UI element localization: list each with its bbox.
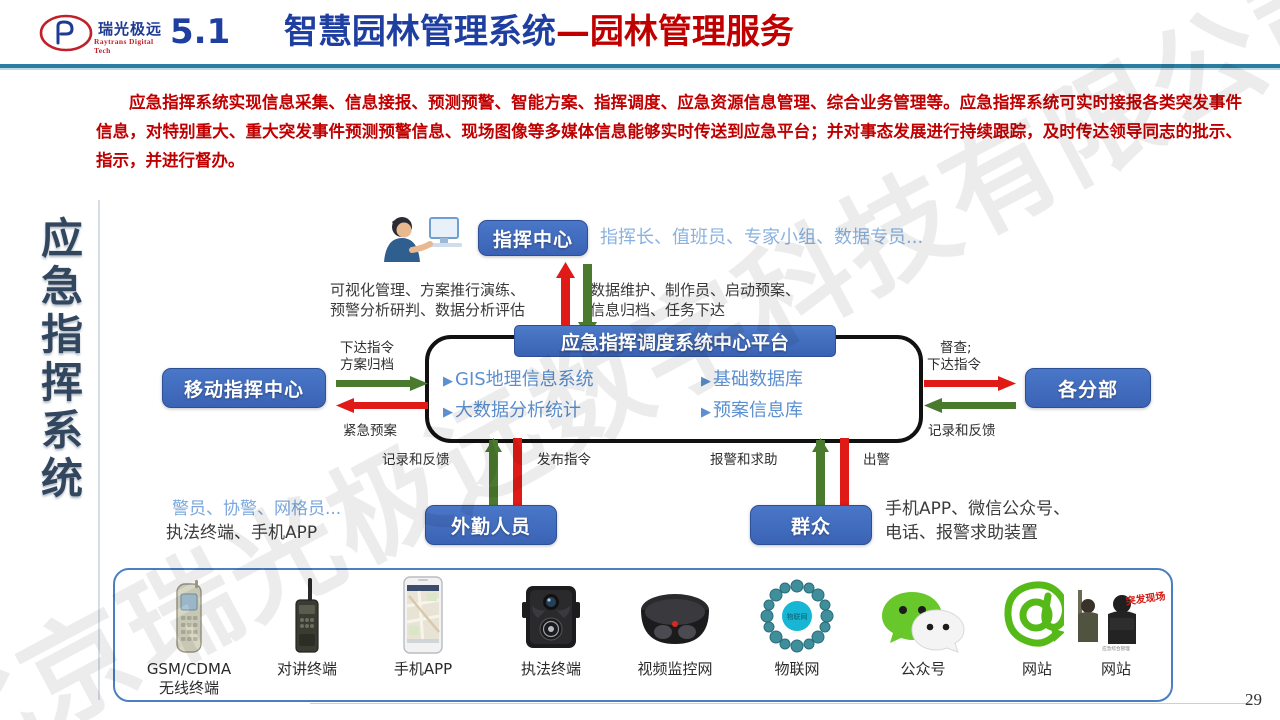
flow-label-right-line2: 信息归档、任务下达 [590, 300, 725, 320]
command-center-badge[interactable]: 指挥中心 [478, 220, 588, 256]
section-number: 5.1 [170, 12, 230, 52]
vertical-title-char-2: 指 [30, 311, 94, 359]
logo-english-name: Raytrans Digital Tech [94, 37, 162, 55]
flow-label-left-line2: 预警分析研判、数据分析评估 [330, 300, 525, 320]
page-title: 5.1 智慧园林管理系统—园林管理服务 [170, 8, 794, 56]
command-center-roles: 指挥长、值班员、专家小组、数据专员... [600, 226, 923, 249]
flow-label-left-line1: 可视化管理、方案推行演练、 [330, 280, 525, 300]
branches-out-label-line2: 下达指令 [927, 357, 981, 374]
logo-chinese-name: 瑞光极远 [98, 18, 162, 39]
vertical-title-char-0: 应 [30, 215, 94, 263]
operator-at-desk-icon [378, 212, 464, 266]
core-right-items: ▶基础数据库 ▶预案信息库 [701, 365, 803, 427]
core-item-basedb: 基础数据库 [713, 369, 803, 390]
bullet-arrow-icon: ▶ [443, 374, 453, 389]
slide-root: 北京瑞光极远数字科技有限公司 瑞光极远 Raytrans Digital Tec… [0, 0, 1280, 720]
vertical-title-char-5: 统 [30, 455, 94, 503]
core-item-bigdata: 大数据分析统计 [455, 400, 581, 421]
field-staff-down-label: 发布指令 [537, 452, 591, 469]
vertical-title-char-3: 挥 [30, 359, 94, 407]
branches-back-label: 记录和反馈 [928, 423, 996, 440]
public-box[interactable]: 群众 [750, 505, 872, 545]
public-up-label: 报警和求助 [710, 452, 778, 469]
bullet-arrow-icon: ▶ [701, 374, 711, 389]
field-staff-up-label: 记录和反馈 [382, 452, 450, 469]
field-staff-roles-blue: 警员、协警、网格员... [172, 498, 341, 521]
intro-paragraph: 应急指挥系统实现信息采集、信息接报、预测预警、智能方案、指挥调度、应急资源信息管… [96, 88, 1242, 175]
public-channels-line1: 手机APP、微信公众号、 [885, 498, 1070, 521]
branches-out-label-line1: 督查; [940, 340, 972, 357]
core-item-plandb: 预案信息库 [713, 400, 803, 421]
field-staff-roles-dark: 执法终端、手机APP [166, 522, 317, 545]
core-item-gis: GIS地理信息系统 [455, 369, 594, 390]
public-channels-line2: 电话、报警求助装置 [885, 522, 1038, 545]
mobile-command-center-box[interactable]: 移动指挥中心 [162, 368, 326, 408]
core-left-items: ▶GIS地理信息系统 ▶大数据分析统计 [443, 365, 594, 427]
header-divider-light [0, 68, 1280, 70]
branches-arrows [924, 376, 1016, 422]
company-logo: 瑞光极远 Raytrans Digital Tech [36, 10, 162, 56]
vertical-title-char-4: 系 [30, 407, 94, 455]
mobile-center-arrows [336, 376, 428, 422]
mobile-out-label-line2: 方案归档 [340, 357, 394, 374]
mobile-back-label: 紧急预案 [343, 423, 397, 440]
bullet-arrow-icon: ▶ [701, 405, 711, 420]
vertical-title-char-1: 急 [30, 263, 94, 311]
title-secondary: —园林管理服务 [556, 12, 794, 52]
flow-label-right-line1: 数据维护、制作员、启动预案、 [590, 280, 800, 300]
public-down-label: 出警 [863, 452, 890, 469]
bullet-arrow-icon: ▶ [443, 405, 453, 420]
vertical-section-title: 应 急 指 挥 系 统 [30, 215, 94, 503]
core-platform-title: 应急指挥调度系统中心平台 [514, 325, 836, 357]
emergency-command-diagram: 指挥中心 指挥长、值班员、专家小组、数据专员... 可视化管理、方案推行演练、 … [100, 200, 1280, 720]
slide-header: 瑞光极远 Raytrans Digital Tech 5.1 智慧园林管理系统—… [0, 0, 1280, 66]
title-primary: 智慧园林管理系统 [284, 12, 556, 52]
branches-box[interactable]: 各分部 [1025, 368, 1151, 408]
core-platform-box: 应急指挥调度系统中心平台 ▶GIS地理信息系统 ▶大数据分析统计 ▶基础数据库 … [425, 335, 923, 443]
field-staff-box[interactable]: 外勤人员 [425, 505, 557, 545]
mobile-out-label-line1: 下达指令 [340, 340, 394, 357]
page-number: 29 [1245, 690, 1262, 710]
